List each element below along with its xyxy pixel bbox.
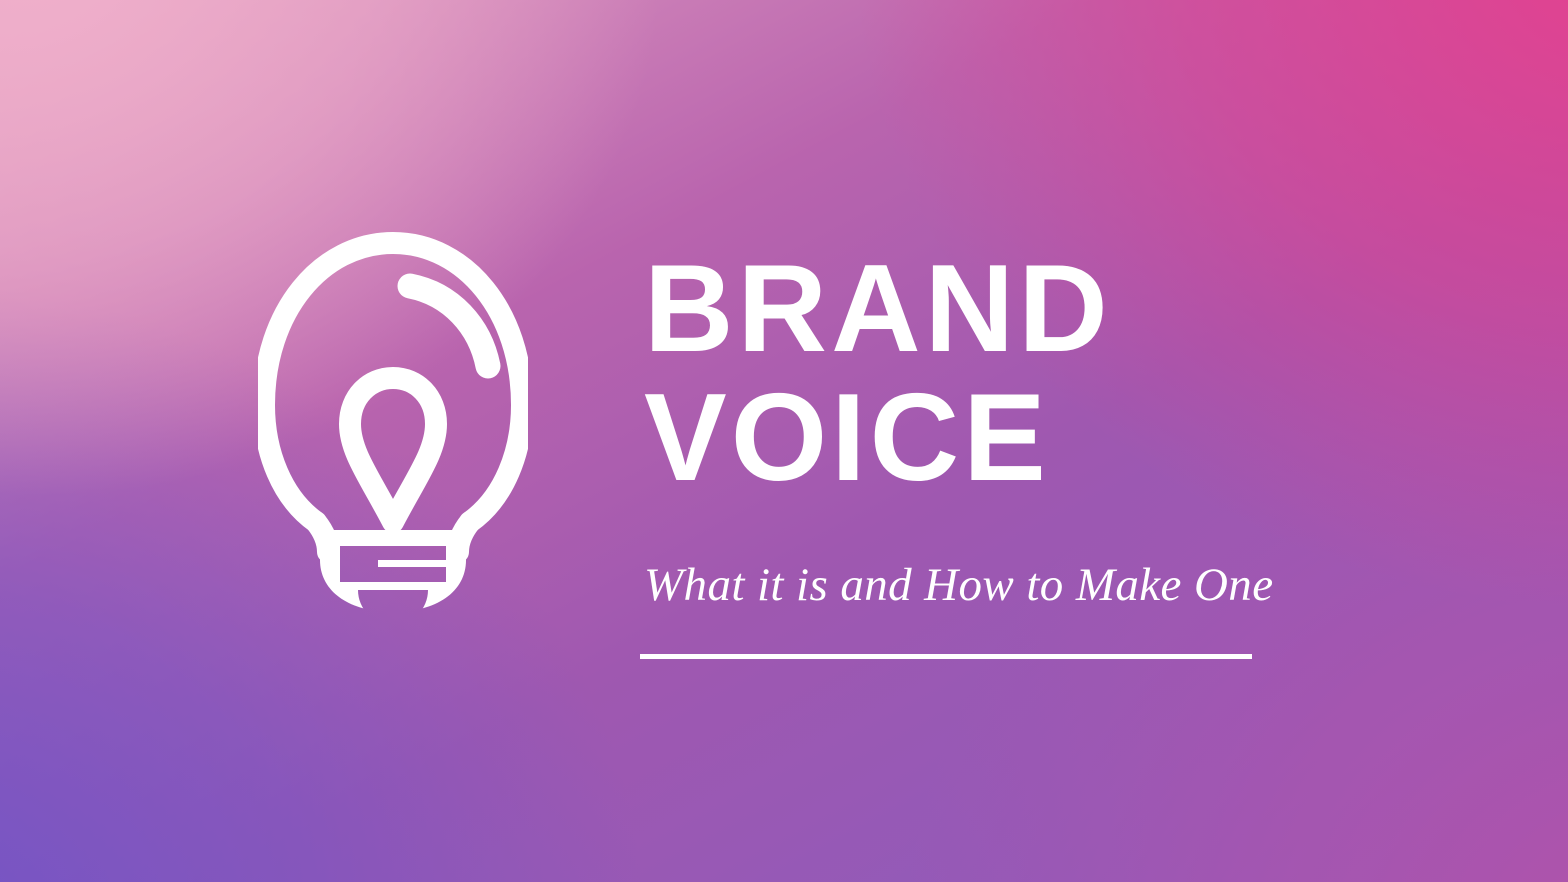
page-title-line-1: BRAND — [644, 248, 1364, 371]
page-title-line-2: VOICE — [644, 377, 1364, 500]
lightbulb-icon — [258, 230, 528, 618]
poster-text-block: BRAND VOICE What it is and How to Make O… — [644, 248, 1364, 659]
poster-canvas: BRAND VOICE What it is and How to Make O… — [0, 0, 1568, 882]
poster-subtitle: What it is and How to Make One — [644, 500, 1364, 612]
divider-rule — [640, 654, 1252, 659]
